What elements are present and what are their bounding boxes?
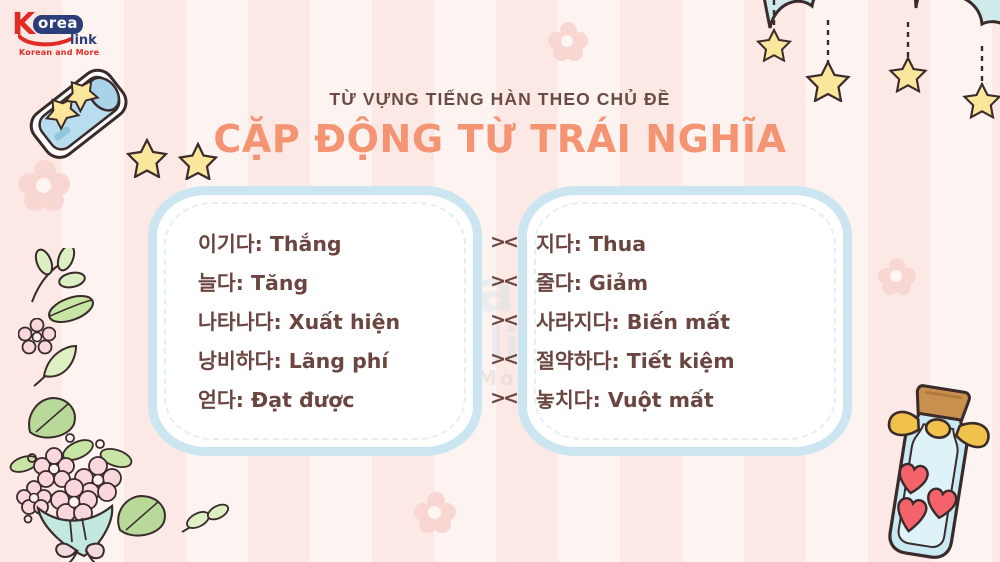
vocab-right-term: 줄다: Giảm (536, 266, 808, 296)
opposite-separator-icon: >< (470, 387, 536, 409)
vocab-left-term: 늘다: Tăng (198, 266, 470, 296)
page-subtitle: TỪ VỰNG TIẾNG HÀN THEO CHỦ ĐỀ (0, 89, 1000, 110)
background-flower-icon (548, 22, 588, 62)
vocab-left-term: 얻다: Đạt được (198, 383, 470, 413)
vocab-pair-row: 얻다: Đạt được><놓치다: Vuột mất (198, 378, 808, 417)
logo-word-orea: orea (33, 15, 83, 34)
background-flower-icon (414, 492, 456, 534)
vocab-left-term: 이기다: Thắng (198, 227, 470, 257)
vocab-left-term: 나타나다: Xuất hiện (198, 305, 470, 335)
vocab-right-term: 놓치다: Vuột mất (536, 383, 808, 413)
vocab-pair-row: 나타나다: Xuất hiện><사라지다: Biến mất (198, 300, 808, 339)
opposite-separator-icon: >< (470, 270, 536, 292)
opposite-separator-icon: >< (470, 348, 536, 370)
logo-tagline: Korean and More (19, 48, 99, 57)
background-flower-icon (878, 258, 916, 296)
background-flower-icon (18, 160, 70, 212)
vocab-pair-list: 이기다: Thắng><지다: Thua늘다: Tăng><줄다: Giảm나타… (198, 222, 808, 417)
page-title: CẶP ĐỘNG TỪ TRÁI NGHĨA (0, 117, 1000, 161)
logo-swoosh-icon (18, 34, 72, 48)
vocab-left-term: 낭비하다: Lãng phí (198, 344, 470, 374)
poster-canvas: K orea link Korean and More (0, 0, 1000, 562)
vocab-right-term: 절약하다: Tiết kiệm (536, 344, 808, 374)
opposite-separator-icon: >< (470, 231, 536, 253)
logo-word-link: link (70, 33, 97, 48)
vocab-pair-row: 이기다: Thắng><지다: Thua (198, 222, 808, 261)
brand-logo[interactable]: K orea link Korean and More (12, 8, 108, 54)
vocab-right-term: 사라지다: Biến mất (536, 305, 808, 335)
vocab-right-term: 지다: Thua (536, 227, 808, 257)
vocab-pair-row: 낭비하다: Lãng phí><절약하다: Tiết kiệm (198, 339, 808, 378)
vocab-pair-row: 늘다: Tăng><줄다: Giảm (198, 261, 808, 300)
opposite-separator-icon: >< (470, 309, 536, 331)
